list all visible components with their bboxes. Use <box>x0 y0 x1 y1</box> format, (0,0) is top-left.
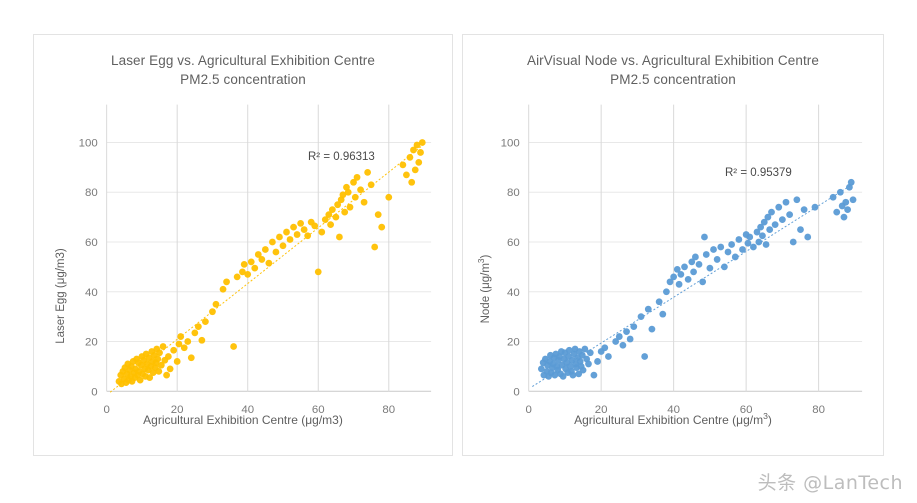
svg-text:80: 80 <box>507 187 520 199</box>
svg-text:100: 100 <box>501 137 520 149</box>
svg-text:40: 40 <box>507 287 520 299</box>
y-axis-label-airvisual-node: Node (μg/m3) <box>480 219 492 359</box>
svg-text:40: 40 <box>85 287 98 299</box>
plot-area-laser-egg: 020406080100020406080 <box>34 35 452 455</box>
x-axis-label-laser-egg: Agricultural Exhibition Centre (μg/m3) <box>34 413 452 427</box>
r2-annotation-laser-egg: R² = 0.96313 <box>308 151 375 163</box>
svg-text:20: 20 <box>507 337 520 349</box>
chart-card-laser-egg[interactable]: Laser Egg vs. Agricultural Exhibition Ce… <box>33 34 453 456</box>
r2-annotation-airvisual-node: R² = 0.95379 <box>725 167 792 179</box>
svg-text:20: 20 <box>85 337 98 349</box>
svg-text:0: 0 <box>513 386 519 398</box>
svg-text:80: 80 <box>85 187 98 199</box>
chart-card-airvisual-node[interactable]: AirVisual Node vs. Agricultural Exhibiti… <box>462 34 884 456</box>
svg-text:60: 60 <box>85 237 98 249</box>
svg-text:100: 100 <box>79 137 98 149</box>
x-axis-label-airvisual-node: Agricultural Exhibition Centre (μg/m3) <box>463 413 883 427</box>
scatter-plot-airvisual-node: 020406080100020406080 <box>463 35 883 455</box>
charts-row: Laser Egg vs. Agricultural Exhibition Ce… <box>0 0 917 460</box>
y-axis-label-laser-egg: Laser Egg (μg/m3) <box>55 226 67 366</box>
scatter-plot-laser-egg: 020406080100020406080 <box>34 35 452 455</box>
svg-text:0: 0 <box>91 386 97 398</box>
watermark: 头条 @LanTech <box>758 468 903 495</box>
plot-area-airvisual-node: 020406080100020406080 <box>463 35 883 455</box>
svg-text:60: 60 <box>507 237 520 249</box>
